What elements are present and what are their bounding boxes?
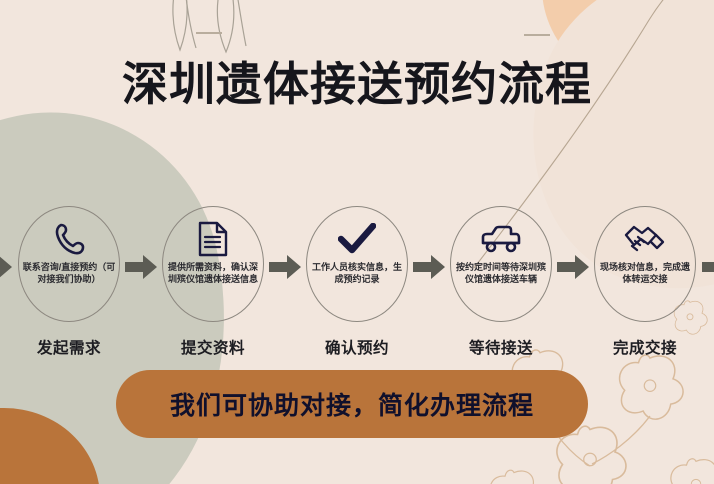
dash-mark-left — [196, 32, 222, 34]
document-icon — [191, 219, 235, 259]
flow-step-2[interactable]: 提供所需资料，确认深圳殡仪馆遗体接送信息 提交资料 — [157, 206, 269, 358]
step-circle: 工作人员核实信息，生成预约记录 — [306, 206, 408, 322]
step-description: 按约定时间等待深圳殡仪馆遗体接送车辆 — [453, 262, 549, 285]
process-flow: 联系咨询/直接预约（可对接我们协助） 发起需求 — [0, 206, 714, 352]
car-icon — [479, 219, 523, 259]
banner-text: 我们可协助对接，简化办理流程 — [170, 386, 534, 422]
step-circle: 现场核对信息，完成遗体转运交接 — [594, 206, 696, 322]
step-description: 提供所需资料，确认深圳殡仪馆遗体接送信息 — [165, 262, 261, 285]
handshake-icon — [623, 219, 667, 259]
step-circle: 按约定时间等待深圳殡仪馆遗体接送车辆 — [450, 206, 552, 322]
dash-mark-right — [524, 34, 550, 36]
step-description: 联系咨询/直接预约（可对接我们协助） — [21, 262, 117, 285]
flow-arrow-icon — [0, 254, 13, 280]
flow-arrow-icon — [557, 254, 589, 280]
step-circle: 提供所需资料，确认深圳殡仪馆遗体接送信息 — [162, 206, 264, 322]
phone-icon — [47, 219, 91, 259]
flow-step-5[interactable]: 现场核对信息，完成遗体转运交接 完成交接 — [589, 206, 701, 358]
checkmark-icon — [335, 219, 379, 259]
flow-step-4[interactable]: 按约定时间等待深圳殡仪馆遗体接送车辆 等待接送 — [445, 206, 557, 358]
step-label: 等待接送 — [469, 336, 533, 358]
poster-canvas: 深圳遗体接送预约流程 联系咨询/直接预约（可对接我们协助） 发起需求 — [0, 0, 714, 484]
flow-step-1[interactable]: 联系咨询/直接预约（可对接我们协助） 发起需求 — [13, 206, 125, 358]
step-description: 现场核对信息，完成遗体转运交接 — [597, 262, 693, 285]
flow-arrow-icon — [269, 254, 301, 280]
bottom-banner[interactable]: 我们可协助对接，简化办理流程 — [116, 370, 588, 438]
flow-arrow-icon — [125, 254, 157, 280]
step-label: 确认预约 — [325, 336, 389, 358]
flow-arrow-icon — [701, 254, 714, 280]
step-label: 发起需求 — [37, 336, 101, 358]
step-label: 完成交接 — [613, 336, 677, 358]
orange-corner-shape — [0, 408, 100, 484]
page-title: 深圳遗体接送预约流程 — [0, 48, 714, 114]
flow-arrow-icon — [413, 254, 445, 280]
step-description: 工作人员核实信息，生成预约记录 — [309, 262, 405, 285]
step-circle: 联系咨询/直接预约（可对接我们协助） — [18, 206, 120, 322]
step-label: 提交资料 — [181, 336, 245, 358]
flow-step-3[interactable]: 工作人员核实信息，生成预约记录 确认预约 — [301, 206, 413, 358]
